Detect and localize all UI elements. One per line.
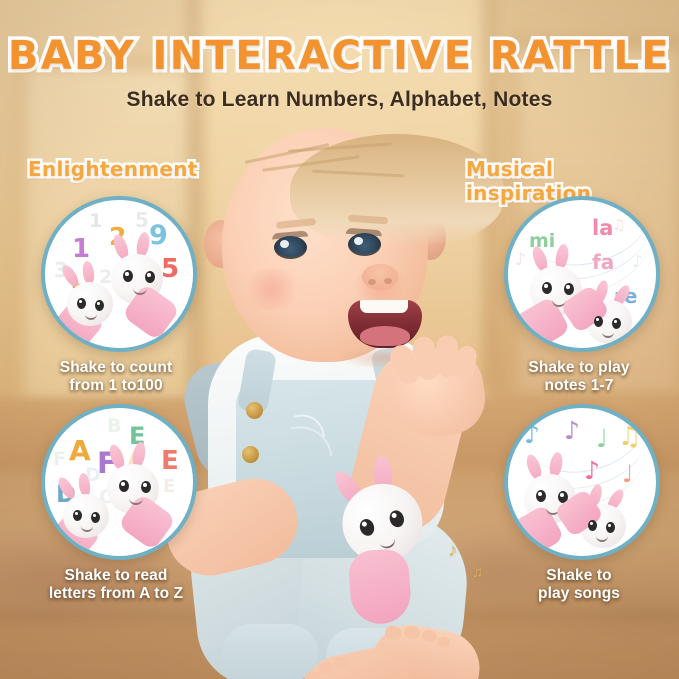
feature-glyph: ♪ <box>632 252 643 272</box>
feature-glyph: ♫ <box>612 216 625 234</box>
feature-count[interactable]: 152913523 Shake to count <box>41 196 191 395</box>
feature-glyph: ♩ <box>596 424 608 453</box>
sound-note-icon: ♫ <box>472 564 483 581</box>
feature-glyph: la <box>592 216 613 240</box>
feature-glyph: 5 <box>135 208 149 232</box>
baby-toe <box>384 624 403 641</box>
baby-finger <box>454 345 478 383</box>
baby-toe <box>436 636 451 649</box>
feature-notes[interactable]: milafaredo♪♪♫ Shake to play <box>504 196 654 395</box>
baby-toe <box>421 629 438 643</box>
feature-glyph: 9 <box>149 220 168 251</box>
feature-songs-circle: ♪♪♩♫♪♩ <box>504 404 660 560</box>
feature-notes-circle: milafaredo♪♪♫ <box>504 196 660 352</box>
feature-glyph: B <box>107 415 121 437</box>
feature-count-caption: Shake to count from 1 to100 <box>41 359 191 395</box>
feature-glyph: 1 <box>89 210 102 232</box>
page-title: BABY INTERACTIVE RATTLE <box>0 33 679 79</box>
feature-count-circle: 152913523 <box>41 196 197 352</box>
rattle-eye <box>388 509 407 529</box>
section-header-enlightenment: Enlightenment <box>28 157 198 181</box>
baby-nostril <box>384 278 392 284</box>
baby-left-cheek <box>242 268 302 310</box>
baby-toe <box>403 625 421 641</box>
page-subtitle: Shake to Learn Numbers, Alphabet, Notes <box>0 88 679 112</box>
feature-glyph: ♪ <box>564 416 580 445</box>
baby-head <box>222 128 428 362</box>
feature-letters-circle: BEAFFAEDDCEC <box>41 404 197 560</box>
feature-glyph: F <box>53 448 66 470</box>
feature-glyph: ♫ <box>618 422 641 452</box>
baby-tongue <box>360 326 410 346</box>
feature-glyph: 1 <box>72 234 90 264</box>
rattle-handle <box>347 548 412 626</box>
feature-glyph: 5 <box>161 254 179 284</box>
feature-letters-caption: Shake to read letters from A to Z <box>41 567 191 603</box>
feature-glyph: ♪ <box>524 420 540 449</box>
baby-toe <box>318 661 335 676</box>
rattle-smile <box>378 535 397 550</box>
baby-left-eye <box>274 236 307 259</box>
feature-letters[interactable]: BEAFFAEDDCEC Shake to read <box>41 404 191 603</box>
baby-nose <box>362 264 398 290</box>
feature-glyph: ♩ <box>622 460 633 488</box>
feature-glyph: E <box>163 476 175 497</box>
baby-overall-button <box>246 402 263 419</box>
feature-glyph: fa <box>592 250 614 274</box>
baby-teeth <box>360 300 408 313</box>
baby-right-eye <box>348 233 381 256</box>
feature-glyph: ♪ <box>515 250 526 270</box>
baby-nostril <box>368 279 376 285</box>
feature-glyph: A <box>69 434 91 467</box>
baby-toe <box>333 656 349 671</box>
baby-left-cuff <box>222 624 318 679</box>
feature-songs[interactable]: ♪♪♩♫♪♩ Shake to play son <box>504 404 654 603</box>
feature-glyph: ♪ <box>584 456 600 485</box>
feature-glyph: E <box>161 446 179 476</box>
sound-note-icon: ♪ <box>448 540 458 562</box>
baby-open-smile <box>348 300 422 348</box>
rattle-eye <box>358 517 377 537</box>
feature-notes-caption: Shake to play notes 1-7 <box>504 359 654 395</box>
feature-songs-caption: Shake to play songs <box>504 567 654 603</box>
product-infographic: ♪ ♫ BABY INTERACTIVE RATTLE Shake to Lea… <box>0 0 679 679</box>
